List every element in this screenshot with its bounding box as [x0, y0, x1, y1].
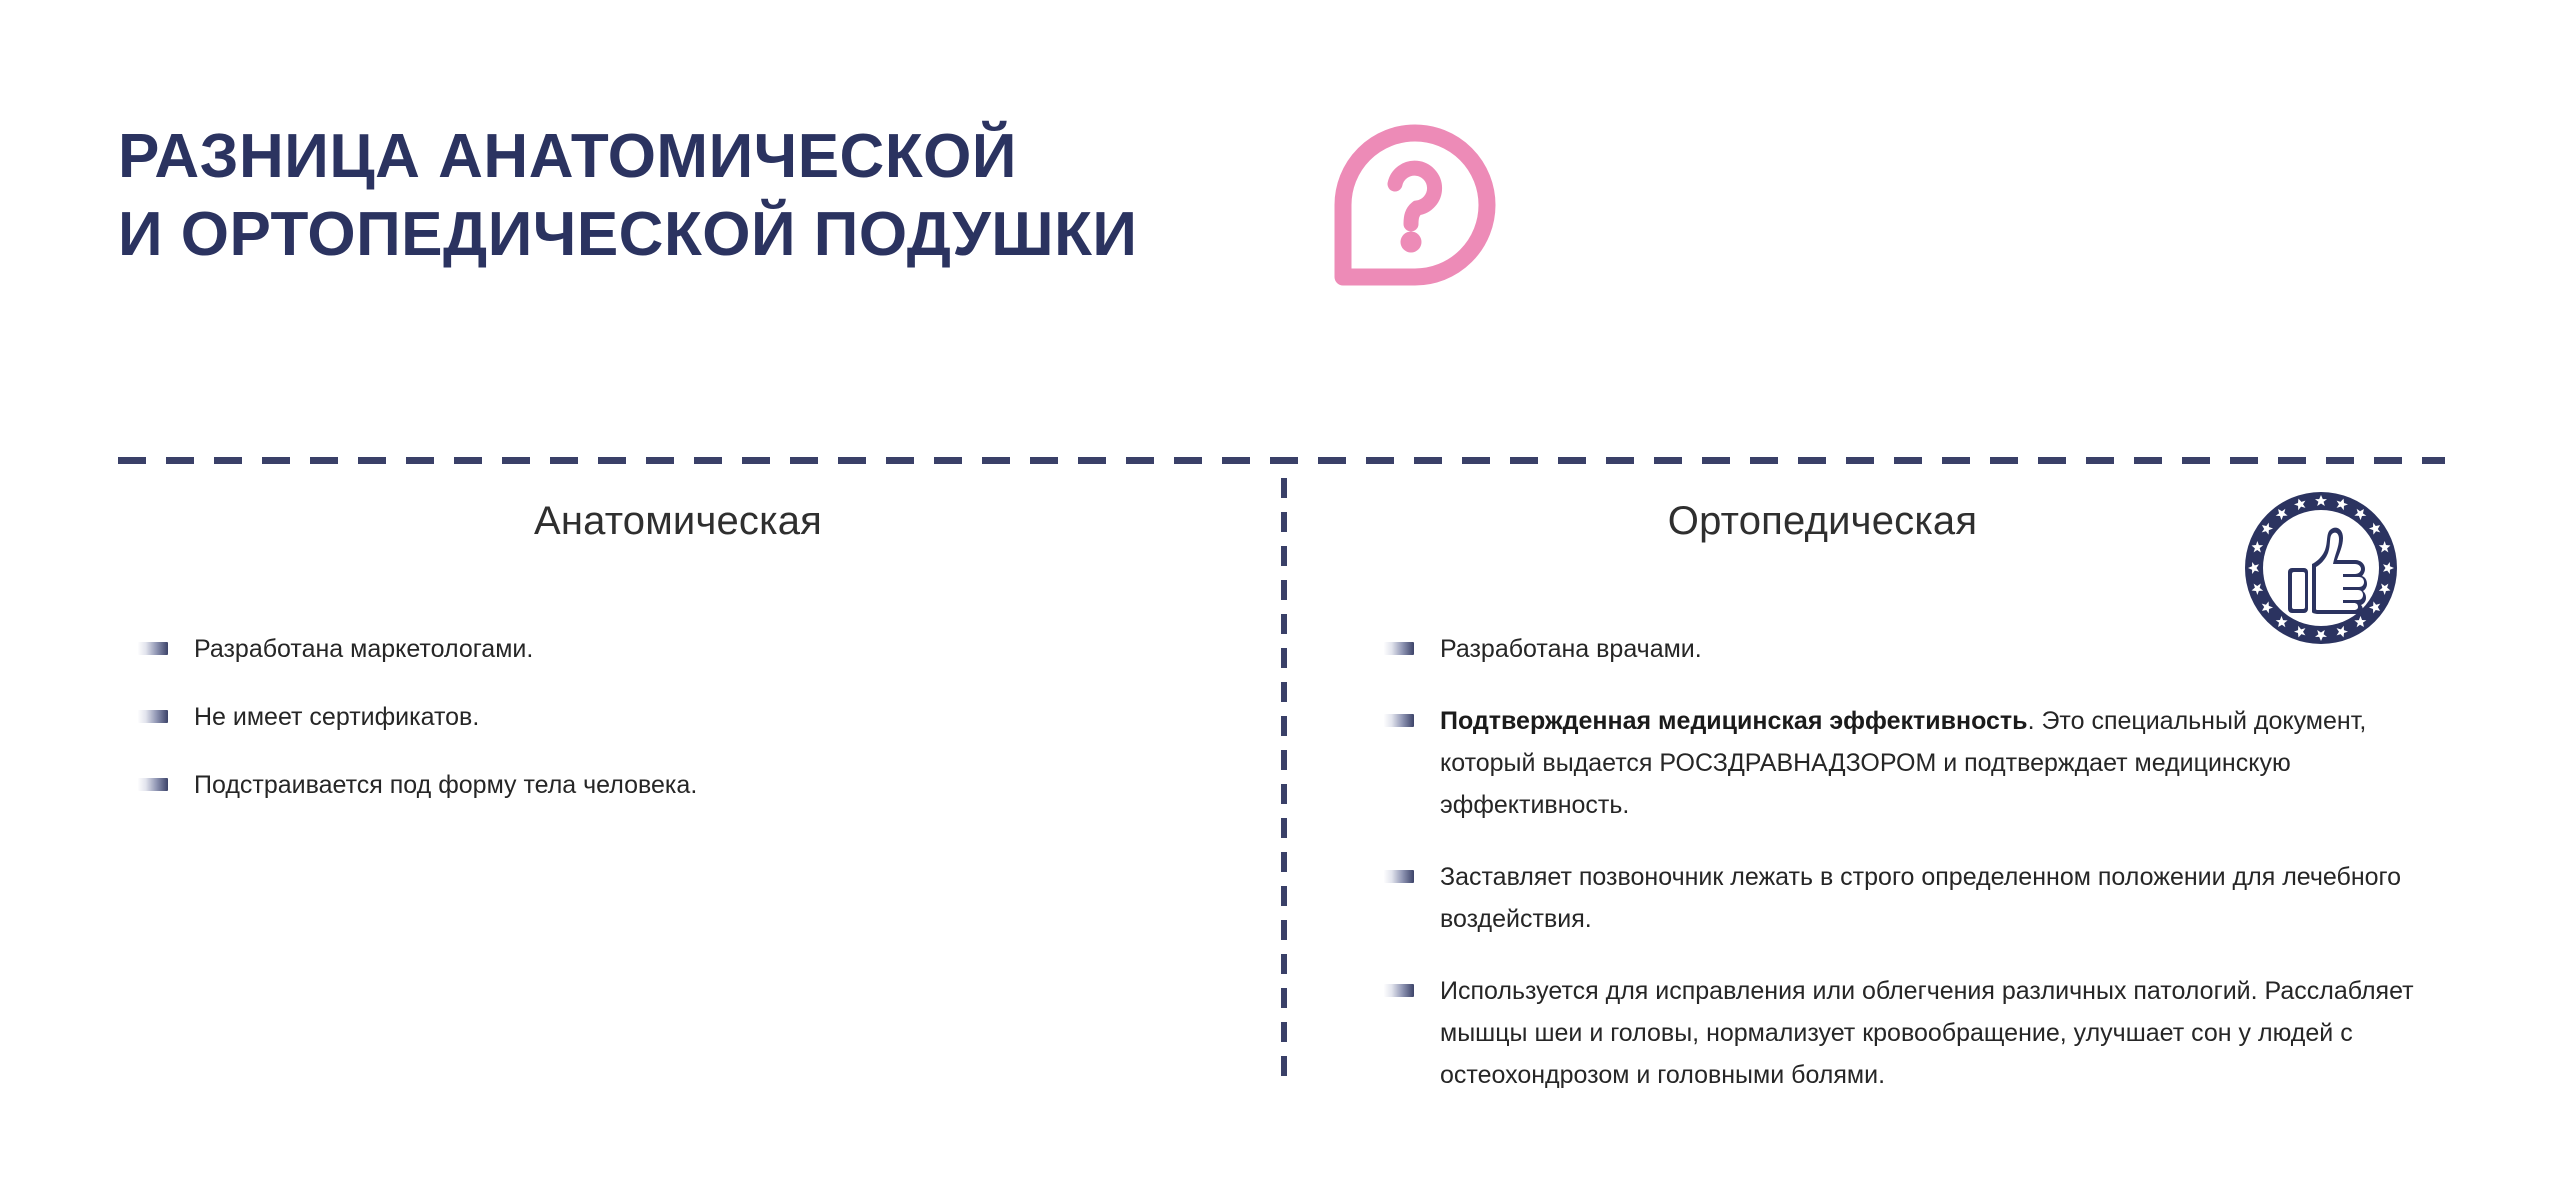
- bullet-marker-icon: [1384, 984, 1414, 997]
- list-item: Используется для исправления или облегче…: [1384, 970, 2445, 1096]
- bullet-list-anatomical: Разработана маркетологами. Не имеет серт…: [118, 628, 1238, 806]
- bullet-marker-icon: [138, 642, 168, 655]
- column-heading-anatomical: Анатомическая: [118, 496, 1238, 546]
- column-anatomical: Анатомическая Разработана маркетологами.…: [118, 496, 1238, 832]
- list-item-text: Разработана врачами.: [1440, 635, 1702, 663]
- page-title: РАЗНИЦА АНАТОМИЧЕСКОЙ И ОРТОПЕДИЧЕСКОЙ П…: [118, 118, 1318, 274]
- bullet-marker-icon: [1384, 714, 1414, 727]
- slide-root: РАЗНИЦА АНАТОМИЧЕСКОЙ И ОРТОПЕДИЧЕСКОЙ П…: [0, 0, 2560, 1188]
- horizontal-dashed-divider: [118, 457, 2445, 464]
- thumbs-up-badge-icon: [2243, 490, 2399, 646]
- list-item-text: Заставляет позвоночник лежать в строго о…: [1440, 863, 2401, 933]
- question-bubble-icon: [1327, 122, 1497, 294]
- list-item-text: Подстраивается под форму тела человека.: [194, 771, 697, 799]
- bullet-marker-icon: [138, 778, 168, 791]
- list-item: Не имеет сертификатов.: [138, 696, 1238, 738]
- list-item: Разработана маркетологами.: [138, 628, 1238, 670]
- list-item-text: Не имеет сертификатов.: [194, 703, 479, 731]
- list-item-text: Подтвержденная медицинская эффективность…: [1440, 707, 2366, 819]
- list-item-text: Разработана маркетологами.: [194, 635, 533, 663]
- list-item: Подстраивается под форму тела человека.: [138, 764, 1238, 806]
- page-title-line-1: РАЗНИЦА АНАТОМИЧЕСКОЙ: [118, 118, 1318, 196]
- list-item-text: Используется для исправления или облегче…: [1440, 977, 2414, 1089]
- bullet-list-orthopedic: Разработана врачами. Подтвержденная меди…: [1360, 628, 2445, 1096]
- vertical-dashed-divider: [1281, 478, 1287, 1080]
- page-title-line-2: И ОРТОПЕДИЧЕСКОЙ ПОДУШКИ: [118, 196, 1318, 274]
- bullet-marker-icon: [138, 710, 168, 723]
- list-item: Подтвержденная медицинская эффективность…: [1384, 700, 2445, 826]
- bullet-marker-icon: [1384, 642, 1414, 655]
- list-item: Заставляет позвоночник лежать в строго о…: [1384, 856, 2445, 940]
- bullet-marker-icon: [1384, 870, 1414, 883]
